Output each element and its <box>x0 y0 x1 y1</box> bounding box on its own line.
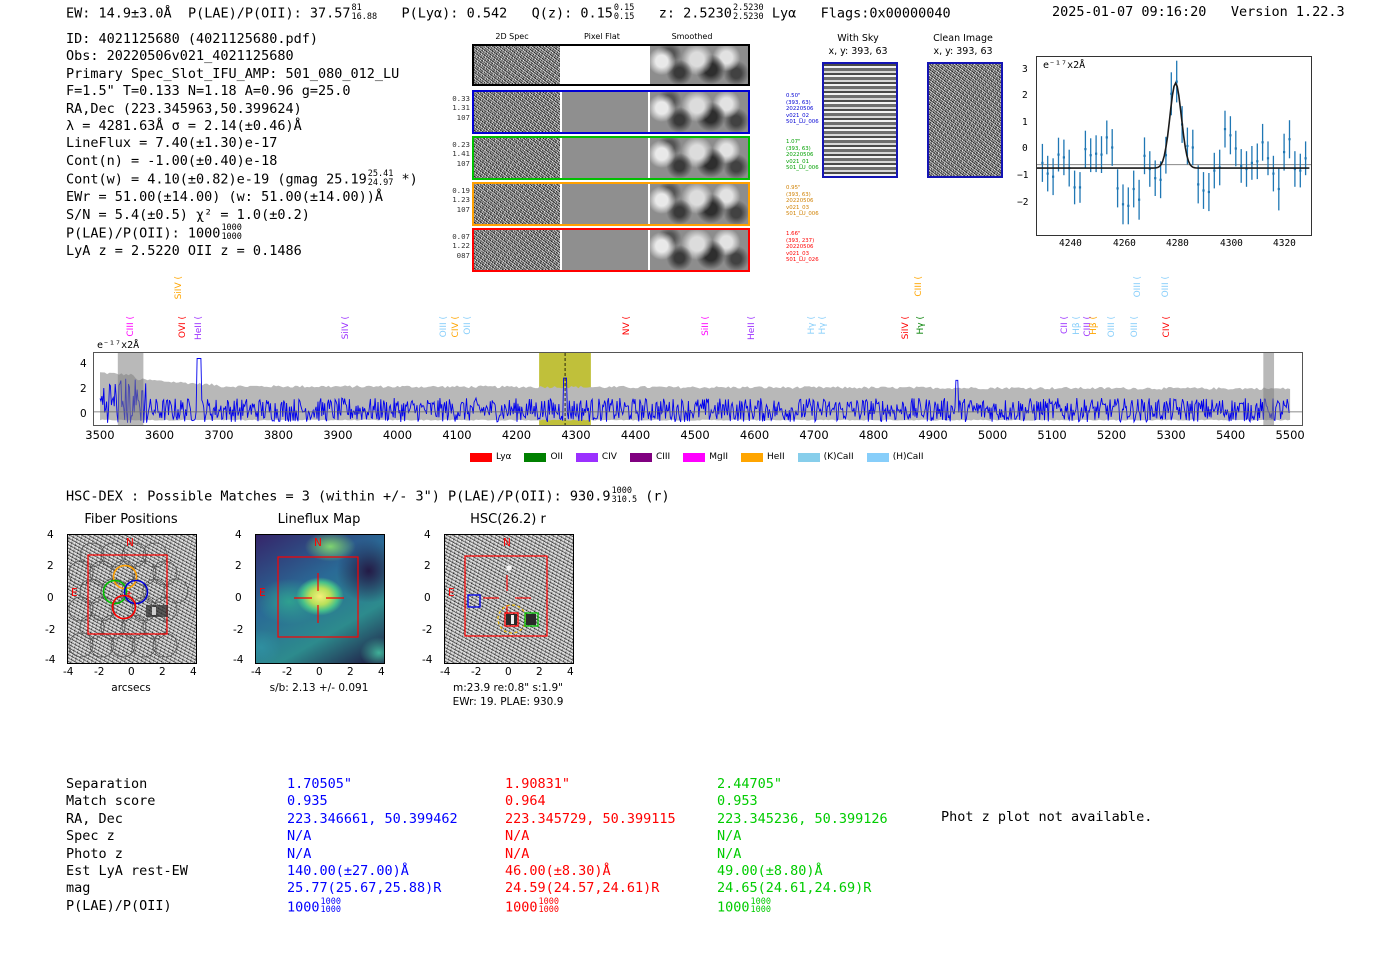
z-line-name: Lyα <box>772 6 796 22</box>
match-radec: 223.345729, 50.399115 <box>505 811 676 828</box>
lineflux-map-image: N E <box>255 534 385 664</box>
hsc-r-image-panel[interactable]: HSC(26.2) r N E 4 2 0 -2 -4 -4 -2 0 2 4 … <box>444 534 572 662</box>
full-spectrum-ytick: 0 <box>80 408 87 420</box>
match-table-row-labels: Separation Match score RA, Dec Spec z Ph… <box>66 776 188 915</box>
source-info-block: ID: 4021125680 (4021125680.pdf) Obs: 202… <box>66 31 418 261</box>
match-score: 0.953 <box>717 793 888 810</box>
fiber-2d-spec-image <box>474 184 560 224</box>
legend-label: (K)CaII <box>824 452 854 462</box>
z-value: 2.5230 <box>683 6 732 22</box>
fiber-positions-panel[interactable]: Fiber Positions + N E 4 2 0 -2 -4 -4 <box>67 534 195 662</box>
full-spectrum-xtick: 4200 <box>502 428 531 442</box>
fiber-smoothed-image <box>650 138 748 178</box>
x-tick: -4 <box>63 666 73 678</box>
hsc-r-overlay <box>445 535 573 663</box>
match-est-ew: 49.00(±8.80)Å <box>717 863 888 880</box>
fiber-smoothed-image <box>650 184 748 224</box>
emission-line-label: Hγ ( <box>807 316 817 334</box>
info-lineflux: LineFlux = 7.40(±1.30)e-17 <box>66 135 418 152</box>
full-spectrum-xtick: 3600 <box>145 428 174 442</box>
x-tick: -2 <box>94 666 104 678</box>
emission-line-label: CIV ( <box>451 316 461 337</box>
with-sky-title: With Sky <box>813 33 903 44</box>
full-spectrum-xtick: 5400 <box>1216 428 1245 442</box>
x-tick: 2 <box>159 666 166 678</box>
gmag-range: 25.4124.97 <box>368 170 394 187</box>
legend-swatch <box>683 453 705 462</box>
plae-value: 37.57 <box>310 6 351 22</box>
hsc-heading-text: HSC-DEX : Possible Matches = 3 (within +… <box>66 489 611 505</box>
weighted-sum-2d-spec-image <box>474 46 560 84</box>
row-label-photo-z: Photo z <box>66 846 188 863</box>
match-column: 1.90831" 0.964 223.345729, 50.399115 N/A… <box>505 776 676 917</box>
match-separation: 1.90831" <box>505 776 676 793</box>
lineplot-ytick: 0 <box>1022 143 1028 154</box>
hsc-r-xlabel: m:23.9 re:0.8" s:1.9" <box>423 682 593 694</box>
match-photo-z: N/A <box>287 846 458 863</box>
column-title-pixel-flat: Pixel Flat <box>552 32 652 41</box>
fiber-metadata: 0.50" (393, 63) 20220506 v021_02 501_LU_… <box>786 93 819 126</box>
legend-label: CIII <box>656 452 670 462</box>
photz-unavailable-note: Phot z plot not available. <box>941 809 1152 825</box>
emission-line-label: Hβ ( <box>1072 316 1082 335</box>
emission-line-label: SiIV ( <box>901 316 911 339</box>
y-tick: 0 <box>235 592 242 604</box>
match-separation: 1.70505" <box>287 776 458 793</box>
lineplot-xtick: 4320 <box>1273 238 1296 249</box>
emission-line-label: CIV ( <box>1162 316 1172 337</box>
fiber-pixel-flat-image <box>562 230 648 270</box>
column-title-smoothed: Smoothed <box>642 32 742 41</box>
fiber-positions-xlabel: arcsecs <box>46 682 216 694</box>
legend-item: HeII <box>741 452 785 462</box>
full-spectrum-xtick: 4000 <box>383 428 412 442</box>
lineflux-map-panel[interactable]: Lineflux Map N E 4 2 0 -2 -4 -4 -2 0 2 4… <box>255 534 383 662</box>
emission-line-label: OIII ( <box>1161 276 1171 297</box>
legend-label: HeII <box>767 452 785 462</box>
y-tick: 4 <box>424 529 431 541</box>
legend-swatch <box>798 453 820 462</box>
match-radec: 223.345236, 50.399126 <box>717 811 888 828</box>
emission-line-label: OIII ( <box>1130 316 1140 337</box>
emission-line-label: HeII ( <box>194 316 204 340</box>
full-spectrum-xtick: 5200 <box>1097 428 1126 442</box>
hsc-r-xlabel2: EWr: 19. PLAE: 930.9 <box>423 696 593 708</box>
emission-line-label: Hβ ( <box>1089 316 1099 335</box>
column-title-2d-spec: 2D Spec <box>462 32 562 41</box>
info-primary-spec-slot: Primary Spec_Slot_IFU_AMP: 501_080_012_L… <box>66 66 418 83</box>
full-spectrum-xtick: 4900 <box>918 428 947 442</box>
legend-swatch <box>741 453 763 462</box>
legend-swatch <box>576 453 598 462</box>
row-label-separation: Separation <box>66 776 188 793</box>
plya-value: 0.542 <box>467 6 508 22</box>
y-tick: 4 <box>47 529 54 541</box>
full-spectrum-ytick: 4 <box>80 358 87 370</box>
lineplot-xtick: 4260 <box>1113 238 1136 249</box>
qz-range: 0.150.15 <box>614 4 634 21</box>
full-spectrum-xtick: 3900 <box>323 428 352 442</box>
east-indicator: E <box>259 587 266 599</box>
match-column: 1.70505" 0.935 223.346661, 50.399462 N/A… <box>287 776 458 917</box>
emission-line-label-layer: CIII (SiIV (OVI (HeII (SiIV (OIII (CIV (… <box>0 268 1400 354</box>
lineplot-xtick: 4240 <box>1059 238 1082 249</box>
report-timestamp-bar: 2025-01-07 09:16:20 Version 1.22.3 <box>1052 4 1345 20</box>
fiber-overlay: + <box>68 535 196 663</box>
legend-item: CIII <box>630 452 670 462</box>
x-tick: 2 <box>347 666 354 678</box>
row-label-match-score: Match score <box>66 793 188 810</box>
header-summary-line: EW: 14.9±3.0Å P(LAE)/P(OII): 37.578116.8… <box>66 4 951 22</box>
y-tick: 0 <box>47 592 54 604</box>
info-seeing-params: F=1.5" T=0.133 N=1.18 A=0.96 g=25.0 <box>66 83 418 100</box>
full-spectrum-xtick: 5300 <box>1156 428 1185 442</box>
y-tick: -4 <box>233 654 243 666</box>
info-plae-poii: P(LAE)/P(OII): 100010001000 <box>66 224 418 243</box>
lineplot-ytick: −1 <box>1017 170 1028 181</box>
lineplot-ytick: 2 <box>1022 90 1028 101</box>
x-tick: 2 <box>536 666 543 678</box>
info-wavelength-sigma: λ = 4281.63Å σ = 2.14(±0.46)Å <box>66 118 418 135</box>
full-spectrum-xtick: 3800 <box>264 428 293 442</box>
hsc-heading-filter: (r) <box>645 489 669 505</box>
hsc-plae-range: 1000310.5 <box>612 487 638 504</box>
legend-label: MgII <box>709 452 728 462</box>
emission-line-label: CIII ( <box>126 316 136 337</box>
emission-line-label: HeII ( <box>747 316 757 340</box>
x-tick: -2 <box>282 666 292 678</box>
y-tick: 2 <box>235 560 242 572</box>
z-label: z: <box>659 6 675 22</box>
emission-line-label: SiIV ( <box>174 276 184 299</box>
match-spec-z: N/A <box>505 828 676 845</box>
fiber-metadata: 1.07" (393, 63) 20220506 v021_01 501_LU_… <box>786 139 819 172</box>
legend-item: (K)CaII <box>798 452 854 462</box>
full-spectrum-xtick: 3700 <box>204 428 233 442</box>
fiber-row[interactable]: 0.07 1.22 087 1.66" (393, 237) 20220506 … <box>472 228 750 272</box>
match-radec: 223.346661, 50.399462 <box>287 811 458 828</box>
hsc-dex-heading: HSC-DEX : Possible Matches = 3 (within +… <box>66 487 670 505</box>
fiber-row[interactable]: 0.19 1.23 107 0.95" (393, 63) 20220506 v… <box>472 182 750 226</box>
line-profile-chart: e⁻¹⁷x2Å <box>1036 56 1312 236</box>
fiber-pixel-flat-image <box>562 92 648 132</box>
info-plae-range: 10001000 <box>221 224 241 241</box>
legend-item: (H)CaII <box>867 452 924 462</box>
emission-line-label: OIII ( <box>1133 276 1143 297</box>
full-spectrum-xtick: 4700 <box>799 428 828 442</box>
y-tick: -4 <box>45 654 55 666</box>
full-spectrum-xtick: 4300 <box>561 428 590 442</box>
x-tick: -4 <box>251 666 261 678</box>
cont-w-text: Cont(w) = 4.10(±0.82)e-19 (gmag 25.19 <box>66 172 367 188</box>
info-obs: Obs: 20220506v021_4021125680 <box>66 48 418 65</box>
lineplot-xtick: 4300 <box>1220 238 1243 249</box>
lineplot-ytick: 3 <box>1022 64 1028 75</box>
x-tick: 0 <box>316 666 323 678</box>
fiber-metric-values: 0.33 1.31 107 <box>440 94 470 122</box>
match-score: 0.935 <box>287 793 458 810</box>
y-tick: -4 <box>422 654 432 666</box>
fiber-metric-values: 0.23 1.41 107 <box>440 140 470 168</box>
svg-text:+: + <box>126 589 132 600</box>
y-tick: -2 <box>45 624 55 636</box>
full-spectrum-xtick: 5100 <box>1037 428 1066 442</box>
emission-line-label: CIII ( <box>914 276 924 297</box>
emission-line-legend: LyαOIICIVCIIIMgIIHeII(K)CaII(H)CaII <box>470 452 924 462</box>
info-cont-n: Cont(n) = -1.00(±0.40)e-18 <box>66 153 418 170</box>
legend-item: MgII <box>683 452 728 462</box>
row-label-est-lya-rest-ew: Est LyA rest-EW <box>66 863 188 880</box>
match-est-ew: 140.00(±27.00)Å <box>287 863 458 880</box>
weighted-sum-pixel-flat-image <box>562 46 648 84</box>
x-tick: -2 <box>471 666 481 678</box>
match-spec-z: N/A <box>717 828 888 845</box>
match-photo-z: N/A <box>717 846 888 863</box>
full-spectrum-xtick: 4500 <box>680 428 709 442</box>
fiber-2d-spec-image <box>474 230 560 270</box>
emission-line-label: SiII ( <box>701 316 711 336</box>
emission-line-label: OIII ( <box>439 316 449 337</box>
emission-line-label: SiIV ( <box>341 316 351 339</box>
with-sky-coords: x, y: 393, 63 <box>813 46 903 57</box>
two-d-spectrum-panel: 2D Spec Pixel Flat Smoothed WeightedSum … <box>430 32 760 252</box>
info-radec: RA,Dec (223.345963,50.399624) <box>66 101 418 118</box>
emission-line-label: NV ( <box>622 316 632 335</box>
x-tick: 4 <box>190 666 197 678</box>
qz-value: 0.15 <box>580 6 613 22</box>
legend-swatch <box>470 453 492 462</box>
with-sky-image <box>822 62 898 178</box>
match-photo-z: N/A <box>505 846 676 863</box>
full-spectrum-xtick: 4100 <box>442 428 471 442</box>
full-spectrum-ytick: 2 <box>80 383 87 395</box>
plae-label: P(LAE)/P(OII): <box>188 6 302 22</box>
emission-line-label: OII ( <box>463 316 473 335</box>
match-plae: 100010001000 <box>505 898 676 917</box>
lineplot-ytick: 1 <box>1022 117 1028 128</box>
fiber-metric-values: 0.07 1.22 087 <box>440 232 470 260</box>
legend-swatch <box>867 453 889 462</box>
x-tick: 4 <box>378 666 385 678</box>
fiber-2d-spec-image <box>474 92 560 132</box>
plae-range: 8116.88 <box>352 4 378 21</box>
timestamp-value: 2025-01-07 09:16:20 <box>1052 4 1206 20</box>
info-sn-chi2: S/N = 5.4(±0.5) χ² = 1.0(±0.2) <box>66 207 418 224</box>
legend-item: CIV <box>576 452 617 462</box>
north-indicator: N <box>314 537 322 549</box>
fiber-metadata: 0.95" (393, 63) 20220506 v021_03 501_LU_… <box>786 185 819 218</box>
east-indicator: E <box>71 587 78 599</box>
x-tick: 0 <box>128 666 135 678</box>
flags-label: Flags:0x00000040 <box>821 6 951 22</box>
full-spectrum-flux-unit-annotation: e⁻¹⁷x2Å <box>97 340 139 351</box>
lineplot-svg <box>1037 57 1311 235</box>
emission-line-label: Hγ ( <box>916 316 926 334</box>
emission-line-label: OIII ( <box>1107 316 1117 337</box>
hsc-r-title: HSC(26.2) r <box>444 512 572 527</box>
y-tick: 2 <box>424 560 431 572</box>
info-redshifts: LyA z = 2.5220 OII z = 0.1486 <box>66 243 418 260</box>
lineflux-map-title: Lineflux Map <box>255 512 383 527</box>
z-range: 2.52302.5230 <box>733 4 764 21</box>
east-indicator: E <box>448 587 455 599</box>
hsc-r-image: N E <box>444 534 574 664</box>
legend-swatch <box>630 453 652 462</box>
emission-line-label: CII ( <box>1060 316 1070 334</box>
clean-image-coords: x, y: 393, 63 <box>918 46 1008 57</box>
emission-line-label: OVI ( <box>178 316 188 338</box>
fiber-smoothed-image <box>650 92 748 132</box>
lineflux-overlay <box>256 535 384 663</box>
row-label-spec-z: Spec z <box>66 828 188 845</box>
full-spectrum-chart <box>93 352 1303 426</box>
cont-w-suffix: *) <box>401 172 417 188</box>
fiber-row[interactable]: 0.33 1.31 107 0.50" (393, 63) 20220506 v… <box>472 90 750 134</box>
match-separation: 2.44705" <box>717 776 888 793</box>
x-tick: 0 <box>505 666 512 678</box>
north-indicator: N <box>503 537 511 549</box>
legend-item: OII <box>524 452 562 462</box>
x-tick: -4 <box>440 666 450 678</box>
clean-image-title: Clean Image <box>918 33 1008 44</box>
full-spectrum-xtick: 4800 <box>859 428 888 442</box>
ew-label: EW: <box>66 6 90 22</box>
clean-image-image <box>927 62 1003 178</box>
match-est-ew: 46.00(±8.30)Å <box>505 863 676 880</box>
x-tick: 4 <box>567 666 574 678</box>
fiber-metadata: 1.66" (393, 237) 20220506 v021_03 501_LU… <box>786 231 819 264</box>
info-ewr: EWr = 51.00(±14.00) (w: 51.00(±14.00))Å <box>66 189 418 206</box>
row-label-mag: mag <box>66 880 188 897</box>
info-plae-text: P(LAE)/P(OII): 1000 <box>66 226 220 242</box>
fiber-smoothed-image <box>650 230 748 270</box>
info-id: ID: 4021125680 (4021125680.pdf) <box>66 31 418 48</box>
y-tick: 0 <box>424 592 431 604</box>
ew-value: 14.9±3.0Å <box>99 6 172 22</box>
full-spectrum-xtick: 4600 <box>740 428 769 442</box>
match-mag: 24.65(24.61,24.69)R <box>717 880 888 897</box>
legend-label: (H)CaII <box>893 452 924 462</box>
full-spectrum-xtick: 4400 <box>621 428 650 442</box>
row-label-radec: RA, Dec <box>66 811 188 828</box>
legend-label: OII <box>550 452 562 462</box>
fiber-positions-image: + N E <box>67 534 197 664</box>
weighted-sum-row <box>472 44 750 86</box>
full-spectrum-xtick: 3500 <box>85 428 114 442</box>
full-spectrum-xtick: 5000 <box>978 428 1007 442</box>
legend-label: Lyα <box>496 452 511 462</box>
lineplot-ytick: −2 <box>1017 197 1028 208</box>
fiber-metric-values: 0.19 1.23 107 <box>440 186 470 214</box>
legend-label: CIV <box>602 452 617 462</box>
match-mag: 25.77(25.67,25.88)R <box>287 880 458 897</box>
y-tick: 4 <box>235 529 242 541</box>
match-mag: 24.59(24.57,24.61)R <box>505 880 676 897</box>
match-score: 0.964 <box>505 793 676 810</box>
legend-swatch <box>524 453 546 462</box>
qz-label: Q(z): <box>532 6 573 22</box>
fiber-pixel-flat-image <box>562 184 648 224</box>
fiber-row[interactable]: 0.23 1.41 107 1.07" (393, 63) 20220506 v… <box>472 136 750 180</box>
plya-label: P(Lyα): <box>402 6 459 22</box>
match-plae: 100010001000 <box>287 898 458 917</box>
weighted-sum-smoothed-image <box>650 46 748 84</box>
info-cont-w: Cont(w) = 4.10(±0.82)e-19 (gmag 25.1925.… <box>66 170 418 189</box>
version-label: Version 1.22.3 <box>1231 4 1345 20</box>
legend-item: Lyα <box>470 452 511 462</box>
full-spectrum-xtick: 5500 <box>1275 428 1304 442</box>
match-plae: 100010001000 <box>717 898 888 917</box>
match-column: 2.44705" 0.953 223.345236, 50.399126 N/A… <box>717 776 888 917</box>
y-tick: 2 <box>47 560 54 572</box>
match-spec-z: N/A <box>287 828 458 845</box>
y-tick: -2 <box>422 624 432 636</box>
fiber-2d-spec-image <box>474 138 560 178</box>
full-spectrum-svg <box>94 353 1302 425</box>
lineflux-map-xlabel: s/b: 2.13 +/- 0.091 <box>234 682 404 694</box>
fiber-pixel-flat-image <box>562 138 648 178</box>
north-indicator: N <box>126 537 134 549</box>
emission-line-label: Hγ ( <box>818 316 828 334</box>
y-tick: -2 <box>233 624 243 636</box>
fiber-positions-title: Fiber Positions <box>67 512 195 527</box>
lineplot-xtick: 4280 <box>1166 238 1189 249</box>
row-label-plae-poii: P(LAE)/P(OII) <box>66 898 188 915</box>
